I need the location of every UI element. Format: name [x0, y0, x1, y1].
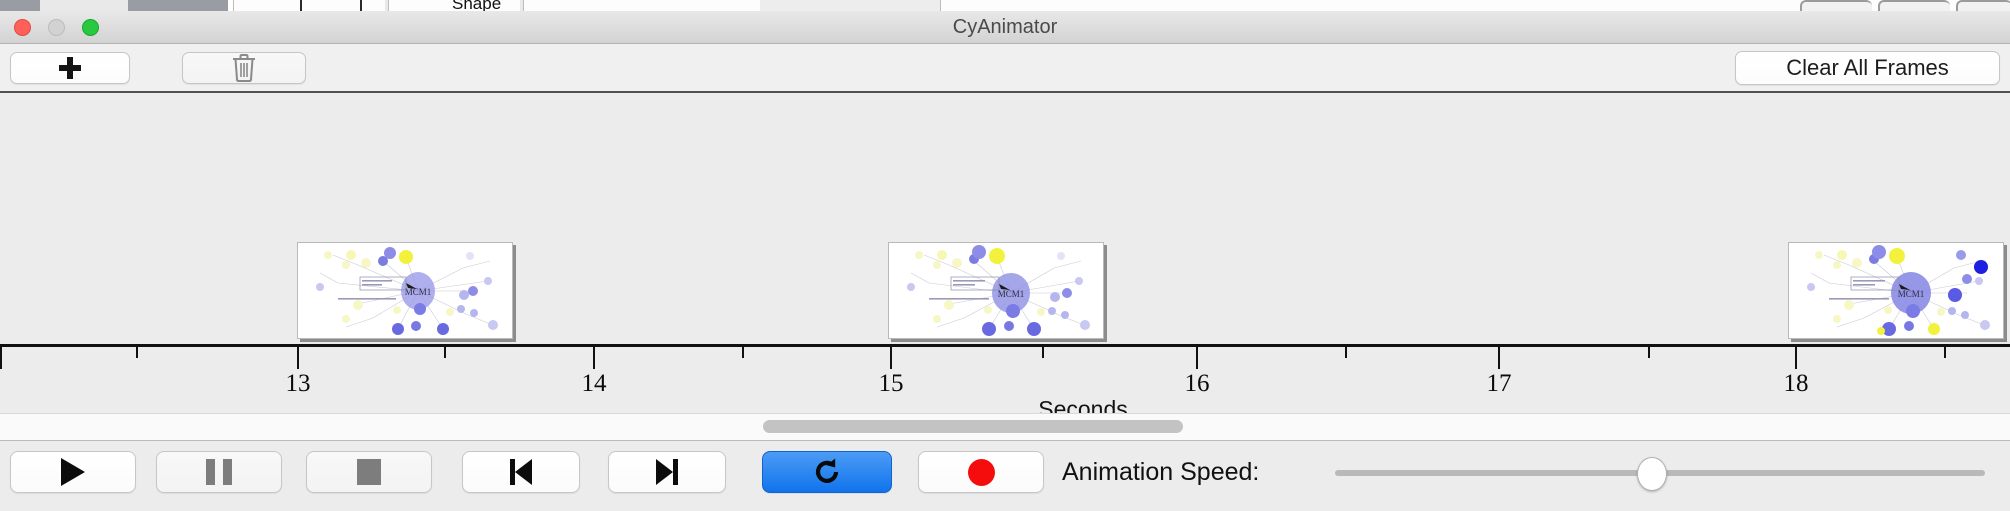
svg-text:MCM1: MCM1: [1898, 289, 1925, 299]
axis-tick-major: [1498, 347, 1500, 369]
pause-button[interactable]: [156, 451, 282, 493]
record-icon: [968, 459, 995, 486]
timeline-frame[interactable]: MCM1: [1788, 242, 2004, 339]
bg-segment: [40, 0, 99, 11]
skip-back-icon: [510, 459, 532, 485]
pause-icon: [206, 459, 232, 485]
axis-tick-minor: [444, 347, 446, 358]
axis-tick-minor: [742, 347, 744, 358]
bg-tab: [1956, 0, 2010, 11]
axis-tick-major: [593, 347, 595, 369]
trash-icon: [231, 53, 257, 83]
timeline-scrollbar[interactable]: [0, 413, 2010, 441]
axis-tick-minor: [1648, 347, 1650, 358]
window-title: CyAnimator: [0, 11, 2010, 44]
axis-tick-minor: [1345, 347, 1347, 358]
axis-tick-label: 14: [559, 370, 629, 398]
delete-frame-button[interactable]: [182, 52, 306, 84]
timeline-panel[interactable]: MCM1: [0, 91, 2010, 415]
animation-speed-label: Animation Speed:: [1062, 451, 1259, 493]
bg-tick: [360, 0, 362, 11]
background-window-strip: Shape: [0, 0, 2010, 11]
network-graph-thumbnail: MCM1: [1789, 243, 2003, 338]
bg-dark-segment: [128, 0, 228, 11]
window-titlebar: CyAnimator: [0, 11, 2010, 44]
play-icon: [61, 458, 85, 486]
network-graph-thumbnail: MCM1: [889, 243, 1103, 338]
loop-icon: [811, 456, 843, 488]
axis-tick-major: [0, 347, 2, 369]
axis-tick-major: [1196, 347, 1198, 369]
skip-to-start-button[interactable]: [462, 451, 580, 493]
axis-tick-label: 15: [856, 370, 926, 398]
bg-tab: [1800, 0, 1872, 11]
network-graph-thumbnail: MCM1: [298, 243, 512, 338]
plus-icon: [59, 57, 81, 79]
loop-button[interactable]: [762, 451, 892, 493]
scrollbar-thumb[interactable]: [763, 420, 1183, 433]
bg-segment: [520, 0, 524, 11]
animation-speed-slider[interactable]: [1335, 469, 1985, 477]
axis-tick-major: [1795, 347, 1797, 369]
bg-segment: [385, 0, 389, 11]
play-button[interactable]: [10, 451, 136, 493]
bg-dark-segment: [0, 0, 40, 11]
axis-tick-label: 12: [0, 370, 8, 398]
bg-segment: [228, 0, 234, 11]
bg-window-label: Shape: [452, 0, 501, 11]
timeline-frame[interactable]: MCM1: [888, 242, 1104, 339]
add-frame-button[interactable]: [10, 52, 130, 84]
axis-tick-label: 17: [1464, 370, 1534, 398]
axis-tick-minor: [136, 347, 138, 358]
axis-tick-major: [890, 347, 892, 369]
skip-to-end-button[interactable]: [608, 451, 726, 493]
clear-all-frames-button[interactable]: Clear All Frames: [1735, 51, 2000, 85]
slider-thumb[interactable]: [1637, 457, 1667, 491]
timeline-frame[interactable]: MCM1: [297, 242, 513, 339]
bg-segment: [760, 0, 941, 11]
timeline-axis: [0, 344, 2010, 347]
svg-text:MCM1: MCM1: [998, 289, 1025, 299]
playback-control-bar: Animation Speed:: [0, 440, 2010, 511]
stop-button[interactable]: [306, 451, 432, 493]
record-button[interactable]: [918, 451, 1044, 493]
stop-icon: [357, 459, 381, 485]
svg-text:MCM1: MCM1: [405, 287, 432, 297]
axis-tick-label: 13: [263, 370, 333, 398]
axis-tick-minor: [1042, 347, 1044, 358]
bg-tab: [1878, 0, 1950, 11]
axis-tick-label: 18: [1761, 370, 1831, 398]
axis-tick-label: 16: [1162, 370, 1232, 398]
skip-forward-icon: [656, 459, 678, 485]
bg-segment: [98, 0, 129, 11]
axis-tick-minor: [1944, 347, 1946, 358]
axis-tick-major: [297, 347, 299, 369]
bg-tick: [300, 0, 302, 11]
frame-toolbar: Clear All Frames: [0, 44, 2010, 92]
